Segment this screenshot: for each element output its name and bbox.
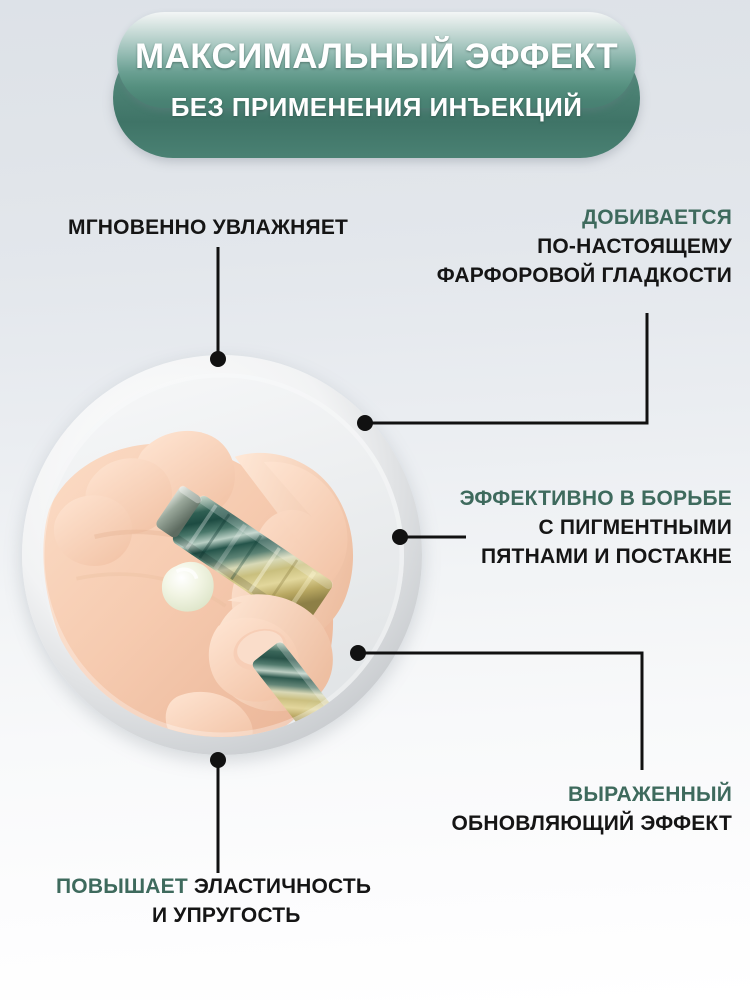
callout-line: ЭФФЕКТИВНО В БОРЬБЕ (460, 484, 732, 513)
callout-instant-hydration: МГНОВЕННО УВЛАЖНЯЕТ (68, 213, 348, 242)
callout-line-row1: ПОВЫШАЕТ ЭЛАСТИЧНОСТЬ (56, 872, 371, 901)
callout-line: С ПИГМЕНТНЫМИ (460, 513, 732, 542)
callout-porcelain-smoothness: ДОБИВАЕТСЯ ПО-НАСТОЯЩЕМУ ФАРФОРОВОЙ ГЛАД… (437, 203, 732, 290)
connector-porcelain-smoothness (357, 313, 647, 431)
banner-headline: МАКСИМАЛЬНЫЙ ЭФФЕКТ (135, 36, 618, 78)
callout-line: ОБНОВЛЯЮЩИЙ ЭФФЕКТ (452, 809, 733, 838)
callout-line: ЭЛАСТИЧНОСТЬ (194, 875, 371, 898)
product-infographic-poster: МАКСИМАЛЬНЫЙ ЭФФЕКТ БЕЗ ПРИМЕНЕНИЯ ИНЪЕК… (0, 0, 750, 1000)
callout-line: ФАРФОРОВОЙ ГЛАДКОСТИ (437, 261, 732, 290)
callout-line: И УПРУГОСТЬ (56, 901, 371, 930)
callout-pigment-spots: ЭФФЕКТИВНО В БОРЬБЕ С ПИГМЕНТНЫМИ ПЯТНАМ… (460, 484, 732, 571)
callout-line: ВЫРАЖЕННЫЙ (452, 780, 733, 809)
connector-elasticity-firmness (210, 752, 226, 873)
callout-line: ПЯТНАМИ И ПОСТАКНЕ (460, 542, 732, 571)
callout-line: ДОБИВАЕТСЯ (437, 203, 732, 232)
header-banner: МАКСИМАЛЬНЫЙ ЭФФЕКТ БЕЗ ПРИМЕНЕНИЯ ИНЪЕК… (113, 12, 640, 158)
callout-elasticity-firmness: ПОВЫШАЕТ ЭЛАСТИЧНОСТЬ И УПРУГОСТЬ (56, 872, 371, 930)
product-photo-circle (22, 355, 422, 755)
product-photo-image (40, 373, 404, 737)
hand-with-serum-illustration (40, 373, 404, 737)
connector-renewing-effect (350, 645, 642, 770)
banner-text-group: МАКСИМАЛЬНЫЙ ЭФФЕКТ БЕЗ ПРИМЕНЕНИЯ ИНЪЕК… (113, 12, 640, 158)
banner-subheadline: БЕЗ ПРИМЕНЕНИЯ ИНЪЕКЦИЙ (171, 90, 583, 124)
callout-line: МГНОВЕННО УВЛАЖНЯЕТ (68, 213, 348, 242)
callout-line: ПОВЫШАЕТ (56, 875, 188, 898)
callout-renewing-effect: ВЫРАЖЕННЫЙ ОБНОВЛЯЮЩИЙ ЭФФЕКТ (452, 780, 733, 838)
connector-instant-hydration (210, 247, 226, 367)
callout-line: ПО-НАСТОЯЩЕМУ (437, 232, 732, 261)
